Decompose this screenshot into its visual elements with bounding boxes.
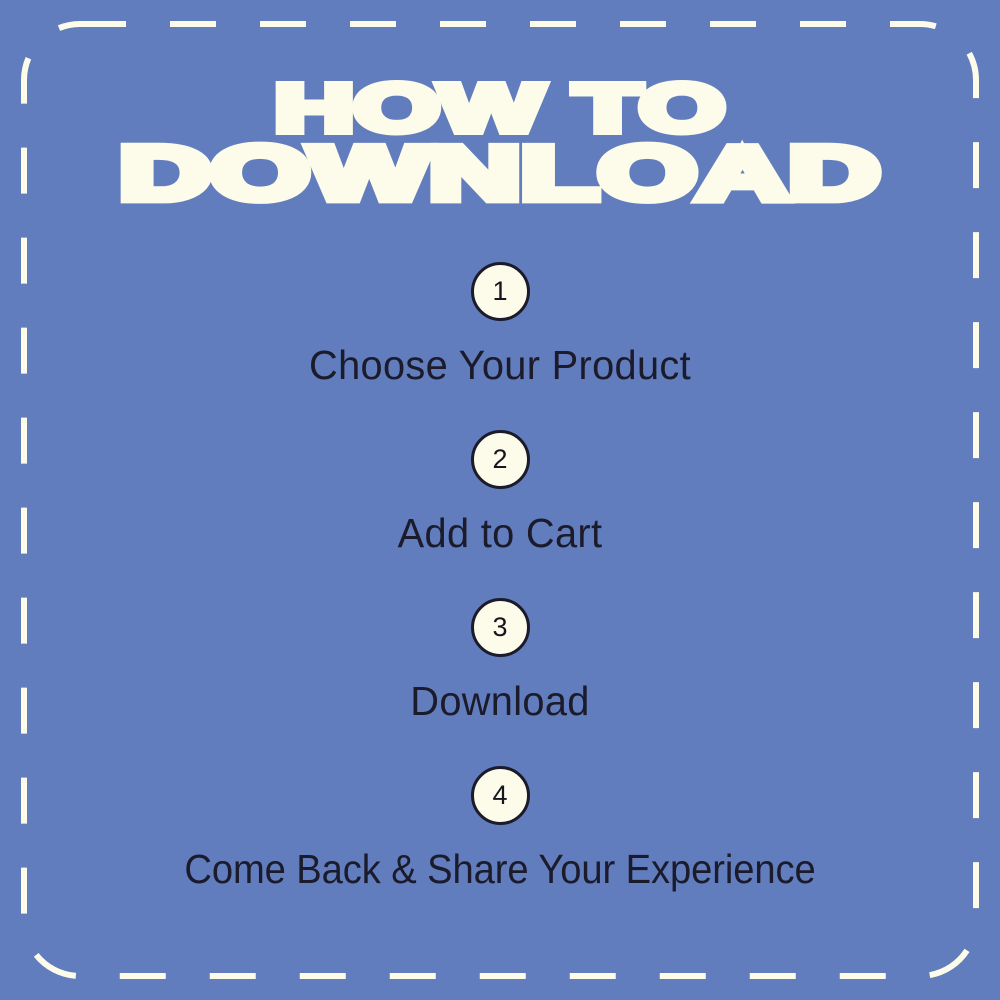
step-label-1: Choose Your Product	[15, 342, 985, 389]
step-number-badge-4: 4	[471, 766, 530, 825]
step-item-2: 2 Add to Cart	[0, 430, 1000, 598]
title-line-two: DOWNLOAD	[0, 136, 1000, 198]
step-item-3: 3 Download	[0, 598, 1000, 766]
step-item-4: 4 Come Back & Share Your Experience	[0, 766, 1000, 934]
page-title: HOW TO DOWNLOAD	[0, 74, 1000, 214]
step-number-2: 2	[474, 433, 527, 486]
step-number-badge-3: 3	[471, 598, 530, 657]
step-number-3: 3	[474, 601, 527, 654]
step-number-badge-2: 2	[471, 430, 530, 489]
steps-list: 1 Choose Your Product 2 Add to Cart 3 Do…	[0, 262, 1000, 934]
step-label-4: Come Back & Share Your Experience	[35, 846, 965, 893]
step-item-1: 1 Choose Your Product	[0, 262, 1000, 430]
step-label-2: Add to Cart	[15, 510, 985, 557]
how-to-download-poster: HOW TO DOWNLOAD 1 Choose Your Product 2 …	[0, 0, 1000, 1000]
step-number-1: 1	[474, 265, 527, 318]
step-number-badge-1: 1	[471, 262, 530, 321]
step-number-4: 4	[474, 769, 527, 822]
step-label-3: Download	[15, 678, 985, 725]
title-line-one: HOW TO	[0, 74, 1000, 130]
